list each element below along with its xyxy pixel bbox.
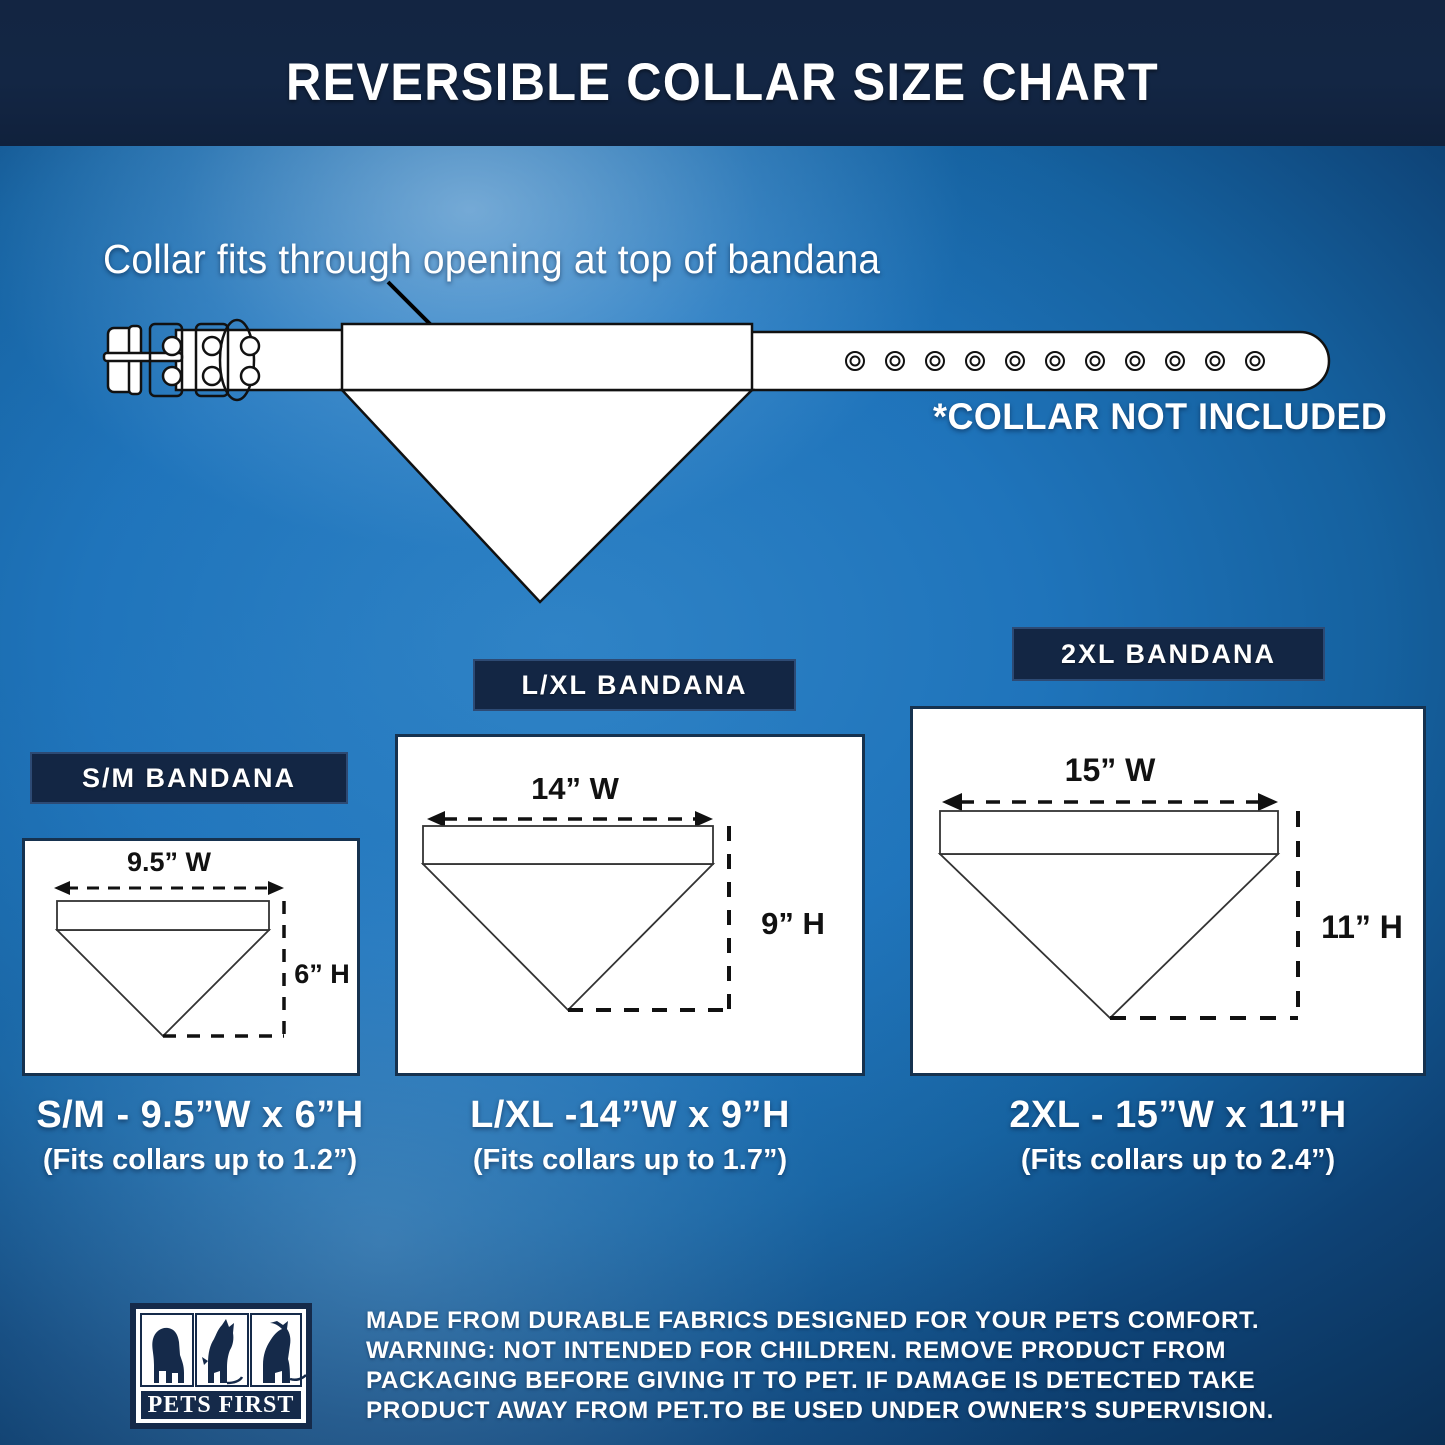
height-label-sm: 6” H [294, 959, 350, 989]
size-caption-2xl: 2XL - 15”W x 11”H (Fits collars up to 2.… [968, 1094, 1388, 1177]
size-caption-sm-line1: S/M - 9.5”W x 6”H [0, 1094, 400, 1137]
width-label-2xl: 15” W [1065, 752, 1156, 788]
bandana-diagram-sm: 9.5” W 6” H [22, 838, 360, 1076]
logo-wordmark: PETS FIRST [148, 1392, 295, 1418]
legal-disclaimer: MADE FROM DURABLE FABRICS DESIGNED FOR Y… [366, 1306, 1356, 1426]
size-caption-lxl-line1: L/XL -14”W x 9”H [430, 1094, 830, 1137]
size-caption-sm-line2: (Fits collars up to 1.2”) [0, 1144, 400, 1177]
size-badge-lxl: L/XL BANDANA [473, 659, 796, 711]
size-caption-2xl-line1: 2XL - 15”W x 11”H [968, 1094, 1388, 1137]
size-caption-lxl-line2: (Fits collars up to 1.7”) [430, 1144, 830, 1177]
bandana-diagram-2xl: 15” W 11” H [910, 706, 1426, 1076]
size-caption-sm: S/M - 9.5”W x 6”H (Fits collars up to 1.… [0, 1094, 400, 1177]
bandana-diagram-lxl: 14” W 9” H [395, 734, 865, 1076]
legal-line-2: WARNING: NOT INTENDED FOR CHILDREN. REMO… [366, 1336, 1356, 1366]
width-label-sm: 9.5” W [127, 847, 212, 877]
size-caption-2xl-line2: (Fits collars up to 2.4”) [968, 1144, 1388, 1177]
bandana-icon [342, 324, 752, 602]
height-label-lxl: 9” H [761, 906, 825, 941]
size-badge-sm: S/M BANDANA [30, 752, 348, 804]
size-chart-infographic: REVERSIBLE COLLAR SIZE CHART Collar fits… [0, 0, 1445, 1445]
legal-line-1: MADE FROM DURABLE FABRICS DESIGNED FOR Y… [366, 1306, 1356, 1336]
height-label-2xl: 11” H [1321, 909, 1403, 945]
collar-bandana-illustration [0, 150, 1445, 670]
legal-line-4: PRODUCT AWAY FROM PET.TO BE USED UNDER O… [366, 1396, 1356, 1426]
size-caption-lxl: L/XL -14”W x 9”H (Fits collars up to 1.7… [430, 1094, 830, 1177]
size-badge-2xl: 2XL BANDANA [1012, 627, 1325, 681]
legal-line-3: PACKAGING BEFORE GIVING IT TO PET. IF DA… [366, 1366, 1356, 1396]
page-title: REVERSIBLE COLLAR SIZE CHART [58, 52, 1387, 113]
width-label-lxl: 14” W [531, 771, 620, 806]
pets-first-logo-icon: PETS FIRST [130, 1303, 312, 1429]
